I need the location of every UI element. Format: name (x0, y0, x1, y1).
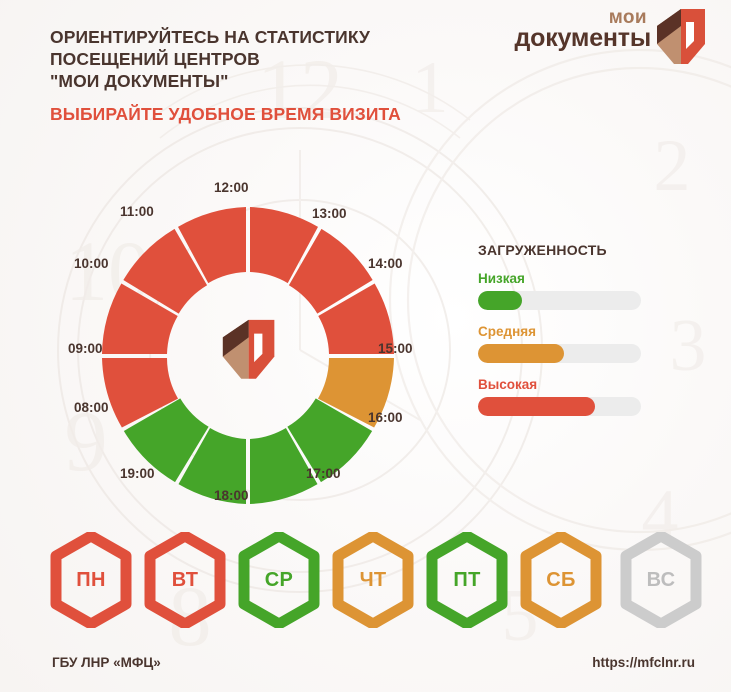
time-label-1400: 14:00 (368, 256, 403, 271)
time-label-0900: 09:00 (68, 341, 103, 356)
legend-item-medium: Средняя (478, 324, 693, 363)
time-label-1300: 13:00 (312, 206, 347, 221)
legend-bar-low (478, 291, 641, 310)
weekday-badge-tue[interactable]: ВТ (142, 532, 228, 628)
footer: ГБУ ЛНР «МФЦ» https://mfclnr.ru (52, 655, 695, 681)
legend-label-low: Низкая (478, 271, 693, 286)
time-label-1700: 17:00 (306, 466, 341, 481)
legend-bar-medium (478, 344, 641, 363)
legend-bar-fill-medium (478, 344, 564, 363)
footer-organization: ГБУ ЛНР «МФЦ» (52, 655, 161, 670)
time-label-1600: 16:00 (368, 410, 403, 425)
weekday-badge-thu[interactable]: ЧТ (330, 532, 416, 628)
title-line-3: "МОИ ДОКУМЕНТЫ" (50, 70, 480, 92)
weekday-label-tue: ВТ (142, 532, 228, 628)
time-label-1200: 12:00 (214, 180, 249, 195)
weekday-label-sat: СБ (518, 532, 604, 628)
time-label-1500: 15:00 (378, 341, 413, 356)
weekday-label-mon: ПН (48, 532, 134, 628)
time-label-1100: 11:00 (120, 204, 154, 219)
legend-item-low: Низкая (478, 271, 693, 310)
time-label-1000: 10:00 (74, 256, 109, 271)
weekday-label-sun: ВС (618, 532, 704, 628)
donut-svg (78, 178, 418, 508)
load-donut-chart: 08:00 09:00 10:00 11:00 12:00 13:00 14:0… (78, 178, 418, 508)
weekday-badge-sun[interactable]: ВС (618, 532, 704, 628)
time-label-0800: 08:00 (74, 400, 109, 415)
time-label-1900: 19:00 (120, 466, 155, 481)
weekday-label-wed: СР (236, 532, 322, 628)
weekday-label-fri: ПТ (424, 532, 510, 628)
load-legend: ЗАГРУЖЕННОСТЬ Низкая Средняя Высокая (478, 242, 693, 430)
legend-item-high: Высокая (478, 377, 693, 416)
brand-logo: мои документы (504, 6, 709, 66)
weekday-badge-sat[interactable]: СБ (518, 532, 604, 628)
legend-bar-fill-low (478, 291, 522, 310)
legend-label-medium: Средняя (478, 324, 693, 339)
svg-text:2: 2 (654, 125, 691, 207)
weekday-badges: ПН ВТ СР ЧТ ПТ (48, 532, 693, 628)
header: ОРИЕНТИРУЙТЕСЬ НА СТАТИСТИКУ ПОСЕЩЕНИЙ Ц… (50, 26, 480, 125)
footer-website-link[interactable]: https://mfclnr.ru (592, 655, 695, 670)
time-label-1800: 18:00 (214, 488, 249, 503)
page-subtitle: ВЫБИРАЙТЕ УДОБНОЕ ВРЕМЯ ВИЗИТА (50, 104, 480, 125)
page-title: ОРИЕНТИРУЙТЕСЬ НА СТАТИСТИКУ ПОСЕЩЕНИЙ Ц… (50, 26, 480, 93)
brand-logo-line-bottom: документы (514, 25, 651, 51)
brand-logo-text: мои документы (514, 8, 651, 51)
legend-label-high: Высокая (478, 377, 693, 392)
infographic-root: 12 10 9 8 1 2 3 4 5 ОРИЕН (0, 0, 731, 692)
weekday-badge-mon[interactable]: ПН (48, 532, 134, 628)
title-line-2: ПОСЕЩЕНИЙ ЦЕНТРОВ (50, 48, 480, 70)
legend-bar-high (478, 397, 641, 416)
title-line-1: ОРИЕНТИРУЙТЕСЬ НА СТАТИСТИКУ (50, 26, 480, 48)
weekday-label-thu: ЧТ (330, 532, 416, 628)
donut-center-icon (223, 320, 275, 379)
weekday-badge-wed[interactable]: СР (236, 532, 322, 628)
mfc-shield-icon (655, 8, 707, 66)
legend-bar-fill-high (478, 397, 595, 416)
weekday-badge-fri[interactable]: ПТ (424, 532, 510, 628)
legend-title: ЗАГРУЖЕННОСТЬ (478, 242, 693, 258)
